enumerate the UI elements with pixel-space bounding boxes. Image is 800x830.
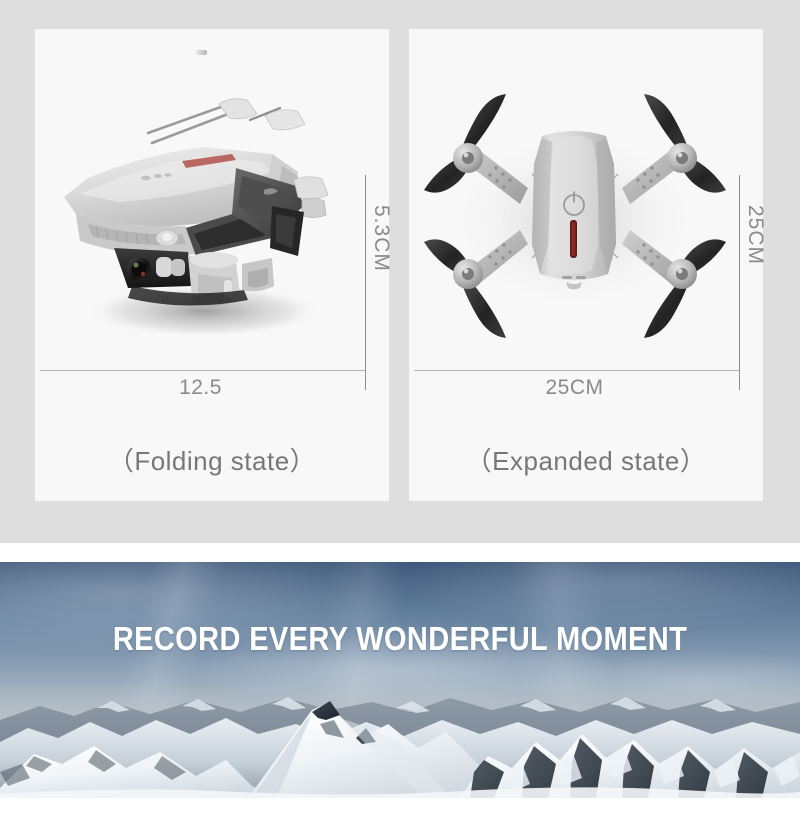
height-dimension-label: 5.3CM bbox=[369, 205, 393, 272]
height-dimension-line bbox=[739, 175, 740, 390]
width-dimension-label: 25CM bbox=[410, 376, 739, 400]
height-dimension-label: 25CM bbox=[743, 205, 767, 265]
page-footer-space bbox=[0, 798, 800, 830]
spec-card-folding-state: 12.5 5.3CM （Folding state） bbox=[36, 30, 388, 500]
section-divider bbox=[0, 543, 800, 562]
mountain-banner: RECORD EVERY WONDERFUL MOMENT bbox=[0, 562, 800, 798]
height-dimension-line bbox=[365, 175, 366, 390]
product-detail-page: 12.5 5.3CM （Folding state） bbox=[0, 0, 800, 830]
mountain-range bbox=[0, 668, 800, 798]
expanded-drone-illustration bbox=[410, 48, 739, 368]
folded-drone-illustration bbox=[36, 48, 365, 368]
spec-section: 12.5 5.3CM （Folding state） bbox=[0, 0, 800, 543]
width-dimension-line bbox=[40, 370, 365, 371]
width-dimension-line bbox=[414, 370, 739, 371]
banner-headline: RECORD EVERY WONDERFUL MOMENT bbox=[48, 620, 752, 658]
width-dimension-label: 12.5 bbox=[36, 376, 365, 400]
expanded-state-caption: （Expanded state） bbox=[410, 441, 762, 478]
folding-state-caption: （Folding state） bbox=[36, 441, 388, 478]
spec-card-expanded-state: 25CM 25CM （Expanded state） bbox=[410, 30, 762, 500]
